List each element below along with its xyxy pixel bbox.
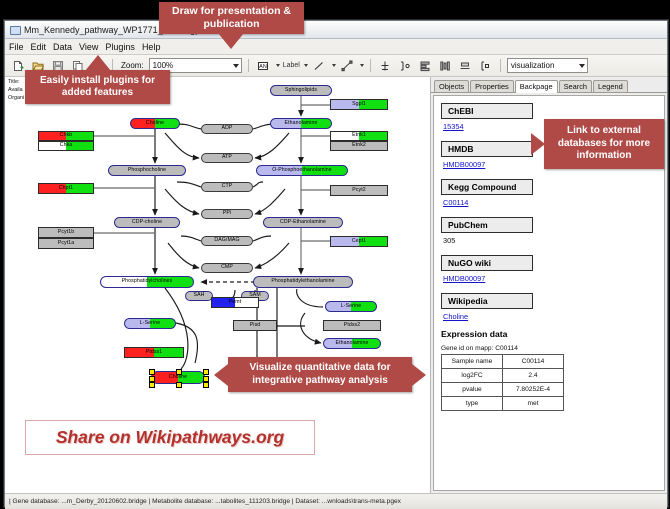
metabolite-label: SAH	[194, 293, 205, 298]
gene-product-node[interactable]: Chpt1	[38, 183, 94, 194]
gene-product-node[interactable]: Etnk2	[330, 141, 388, 151]
metabolite-node[interactable]: L-Serine	[325, 301, 377, 312]
selection-handle[interactable]	[176, 369, 182, 375]
database-value: 305	[443, 236, 657, 245]
label-button[interactable]: Label	[283, 62, 300, 69]
database-link[interactable]: Choline	[443, 312, 657, 321]
callout-draw: Draw for presentation & publication	[159, 2, 304, 34]
callout-visualize-arrow-right-icon	[412, 364, 426, 386]
stack-icon[interactable]	[457, 57, 474, 74]
selection-handle[interactable]	[149, 376, 155, 382]
metabolite-node[interactable]: Phosphatidylethanolamine	[253, 276, 353, 288]
shared-metabolite-node[interactable]: PPi	[201, 209, 253, 219]
gene-product-node[interactable]: Cept1	[330, 236, 388, 247]
status-text: | Gene database: ...m_Derby_20120602.bri…	[9, 498, 401, 505]
share-text: Share on Wikipathways.org	[56, 427, 284, 448]
visualization-value: visualization	[511, 61, 555, 70]
zoom-value: 100%	[153, 61, 173, 70]
gene-product-node[interactable]: Chkb	[38, 131, 94, 141]
selection-handle[interactable]	[203, 369, 209, 375]
bracket-icon[interactable]	[397, 57, 414, 74]
metabolite-label: Phosphatidylcholines	[122, 279, 173, 284]
expression-value: 7.80252E-4	[503, 383, 564, 397]
metabolite-label: Ethanolamine	[336, 341, 369, 346]
expression-row: log2FC2.4	[442, 369, 564, 383]
tab-properties[interactable]: Properties	[470, 80, 514, 92]
metabolite-label: O-Phosphoethanolamine	[272, 168, 332, 173]
group-icon[interactable]	[477, 57, 494, 74]
shared-metabolite-label: CMP	[221, 265, 233, 270]
tab-backpage[interactable]: Backpage	[515, 80, 558, 93]
gene-product-node[interactable]: Ptdss2	[323, 320, 381, 331]
gene-product-label: Ptdss2	[344, 323, 360, 328]
metabolite-node[interactable]: Phosphocholine	[108, 165, 186, 176]
chevron-down-icon	[579, 64, 585, 68]
visualization-combo[interactable]: visualization	[507, 58, 588, 73]
shared-metabolite-label: DAG/MAG	[214, 238, 239, 243]
database-name-wikipedia: Wikipedia	[441, 293, 533, 309]
expression-row: typemet	[442, 397, 564, 411]
shared-metabolite-label: CTP	[222, 184, 233, 189]
toolbar-separator	[500, 59, 501, 72]
gene-product-node[interactable]: Pcyt2	[330, 185, 388, 196]
gene-product-label: Etnk2	[352, 143, 366, 148]
metabolite-node[interactable]: Choline	[130, 118, 180, 129]
metabolite-node[interactable]: SAH	[185, 291, 213, 301]
callout-share: Share on Wikipathways.org	[25, 420, 315, 455]
callout-link-arrow-icon	[531, 133, 545, 155]
metabolite-node[interactable]: O-Phosphoethanolamine	[256, 165, 348, 176]
gene-product-node[interactable]: Pemt	[211, 297, 259, 308]
gene-product-node[interactable]: Pcyt1a	[38, 238, 94, 249]
gene-product-node[interactable]: Sgpl1	[330, 99, 388, 110]
gene-product-label: Cept1	[352, 239, 366, 244]
selection-handle[interactable]	[203, 376, 209, 382]
database-link[interactable]: HMDB00097	[443, 274, 657, 283]
gene-product-node[interactable]: Chka	[38, 141, 94, 151]
chevron-down-icon	[233, 64, 239, 68]
metabolite-label: Sphingolipids	[285, 88, 317, 93]
metabolite-label: CDP-Ethanolamine	[280, 220, 326, 225]
gene-product-label: Sgpl1	[352, 102, 366, 107]
menu-bar: File Edit Data View Plugins Help	[5, 39, 667, 55]
shared-metabolite-node[interactable]: CMP	[201, 263, 253, 273]
menu-item-data[interactable]: Data	[53, 42, 72, 52]
callout-visualize-arrow-left-icon	[214, 364, 228, 386]
gene-product-label: Pcyt2	[352, 188, 365, 193]
gene-id-text: Gene id on mapp: C00114	[441, 345, 657, 352]
menu-item-edit[interactable]: Edit	[31, 42, 47, 52]
gene-product-label: Pemt	[229, 300, 242, 305]
selection-handle[interactable]	[176, 382, 182, 388]
expression-key: type	[442, 397, 503, 411]
zoom-label: Zoom:	[121, 61, 144, 70]
expression-key: log2FC	[442, 369, 503, 383]
database-name-pubchem: PubChem	[441, 217, 533, 233]
database-name-kegg-compound: Kegg Compound	[441, 179, 533, 195]
metabolite-node[interactable]: Ethanolamine	[323, 338, 381, 349]
toolbar-separator	[370, 59, 371, 72]
chevron-down-icon[interactable]	[304, 64, 308, 67]
metabolite-label: L-Serine	[140, 321, 160, 326]
callout-visualize: Visualize quantitative data for integrat…	[228, 357, 412, 392]
database-name-nugo-wiki: NuGO wiki	[441, 255, 533, 271]
chevron-down-icon[interactable]	[332, 64, 336, 67]
metabolite-label: Ethanolamine	[285, 121, 318, 126]
expression-value: 2.4	[503, 369, 564, 383]
database-name-chebi: ChEBI	[441, 103, 533, 119]
shared-metabolite-node[interactable]: ATP	[201, 153, 253, 163]
gene-product-label: Pisd	[250, 323, 261, 328]
menu-item-file[interactable]: File	[9, 42, 24, 52]
callout-draw-arrow-icon	[218, 33, 244, 49]
gene-product-node[interactable]: Pcyt1b	[38, 227, 94, 238]
metabolite-label: Choline	[146, 121, 164, 126]
expression-table: Sample nameC00114log2FC2.4pvalue7.80252E…	[441, 354, 564, 411]
shared-metabolite-node[interactable]: ADP	[201, 124, 253, 134]
chevron-down-icon[interactable]	[360, 64, 364, 67]
screenshot-root: Mm_Kennedy_pathway_WP1771_45176.gpml Fil…	[0, 0, 670, 509]
selection-handle[interactable]	[149, 369, 155, 375]
database-link[interactable]: C00114	[443, 198, 657, 207]
gene-product-label: Ptdss1	[146, 350, 162, 355]
metabolite-label: Phosphocholine	[128, 168, 166, 173]
menu-item-view[interactable]: View	[79, 42, 98, 52]
tab-legend[interactable]: Legend	[593, 80, 628, 92]
expression-data-heading: Expression data	[441, 329, 657, 339]
metabolite-label: CDP-choline	[132, 220, 162, 225]
gene-product-label: Chkb	[60, 133, 73, 138]
panel-tabs: Objects Properties Backpage Search Legen…	[431, 77, 667, 93]
database-name-hmdb: HMDB	[441, 141, 533, 157]
menu-item-plugins[interactable]: Plugins	[105, 42, 135, 52]
expression-key: pvalue	[442, 383, 503, 397]
gene-product-label: Pcyt1a	[58, 241, 74, 246]
line-icon[interactable]	[311, 57, 328, 74]
metabolite-label: Choline	[169, 375, 187, 380]
metabolite-node[interactable]: Sphingolipids	[270, 85, 332, 96]
shared-metabolite-label: ATP	[222, 155, 232, 160]
metabolite-node[interactable]: L-Serine	[124, 318, 176, 329]
expression-value: C00114	[503, 355, 564, 369]
metabolite-node[interactable]: Ethanolamine	[270, 118, 332, 129]
expression-row: pvalue7.80252E-4	[442, 383, 564, 397]
expression-key: Sample name	[442, 355, 503, 369]
shared-metabolite-node[interactable]: CTP	[201, 182, 253, 192]
gene-product-label: Etnk1	[352, 133, 366, 138]
gene-product-label: Pcyt1b	[58, 230, 74, 235]
expression-row: Sample nameC00114	[442, 355, 564, 369]
tab-objects[interactable]: Objects	[434, 80, 469, 92]
align-icon[interactable]	[417, 57, 434, 74]
selection-handle[interactable]	[149, 382, 155, 388]
gene-product-node[interactable]: Pisd	[233, 320, 277, 331]
metabolite-node[interactable]: CDP-Ethanolamine	[263, 217, 343, 228]
selection-handle[interactable]	[203, 382, 209, 388]
gene-product-node[interactable]: Etnk1	[330, 131, 388, 141]
gene-product-label: Chka	[60, 143, 73, 148]
chevron-down-icon[interactable]	[276, 64, 280, 67]
svg-text:AN: AN	[259, 64, 267, 70]
gene-product-node[interactable]: Ptdss1	[124, 347, 184, 358]
callout-plugins-arrow-icon	[85, 55, 111, 71]
toolbar-separator	[248, 59, 249, 72]
connector-icon[interactable]	[339, 57, 356, 74]
gene-product-label: Chpt1	[59, 186, 73, 191]
shared-metabolite-label: ADP	[222, 126, 233, 131]
expression-value: met	[503, 397, 564, 411]
distribute-icon[interactable]	[437, 57, 454, 74]
menu-item-help[interactable]: Help	[142, 42, 161, 52]
tab-search[interactable]: Search	[559, 80, 592, 92]
shared-metabolite-node[interactable]: DAG/MAG	[201, 236, 253, 246]
new-document-icon[interactable]	[9, 57, 26, 74]
title-bar: Mm_Kennedy_pathway_WP1771_45176.gpml	[5, 21, 667, 39]
metabolite-label: Phosphatidylethanolamine	[271, 279, 334, 284]
metabolite-node[interactable]: CDP-choline	[114, 217, 180, 228]
app-icon	[9, 24, 20, 35]
metabolite-label: L-Serine	[341, 304, 361, 309]
status-bar: | Gene database: ...m_Derby_20120602.bri…	[5, 493, 667, 509]
callout-link: Link to external databases for more info…	[544, 119, 664, 169]
datanode-icon[interactable]: AN	[255, 57, 272, 74]
anchor-icon[interactable]	[377, 57, 394, 74]
callout-plugins: Easily install plugins for added feature…	[25, 70, 170, 104]
shared-metabolite-label: PPi	[223, 211, 231, 216]
metabolite-node[interactable]: Phosphatidylcholines	[100, 276, 194, 288]
